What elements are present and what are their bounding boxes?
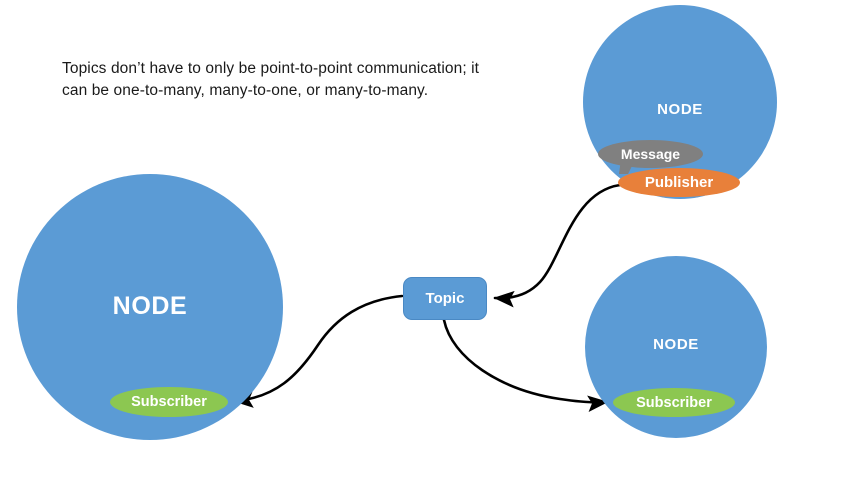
publisher-label: Publisher: [645, 174, 713, 191]
subscriber-label: Subscriber: [131, 394, 207, 410]
node-label: NODE: [583, 101, 777, 118]
edge-publisher-to-topic: [495, 185, 620, 298]
publisher-pill[interactable]: Publisher: [618, 168, 740, 197]
subscriber-label: Subscriber: [636, 395, 712, 411]
subscriber-pill-right[interactable]: Subscriber: [613, 388, 735, 417]
topic-label: Topic: [426, 290, 465, 307]
caption-line-1: Topics don’t have to only be point-to-po…: [62, 60, 479, 77]
topic-box[interactable]: Topic: [403, 277, 487, 320]
caption-line-2: can be one-to-many, many-to-one, or many…: [62, 82, 428, 99]
node-label: NODE: [585, 336, 767, 353]
edge-topic-to-subscriber-right: [444, 320, 607, 402]
node-label: NODE: [17, 292, 283, 321]
slide-canvas: Topics don’t have to only be point-to-po…: [0, 0, 854, 480]
message-callout[interactable]: Message: [598, 140, 703, 168]
subscriber-pill-left[interactable]: Subscriber: [110, 387, 228, 417]
caption-text: Topics don’t have to only be point-to-po…: [62, 58, 482, 103]
message-label: Message: [621, 146, 680, 162]
